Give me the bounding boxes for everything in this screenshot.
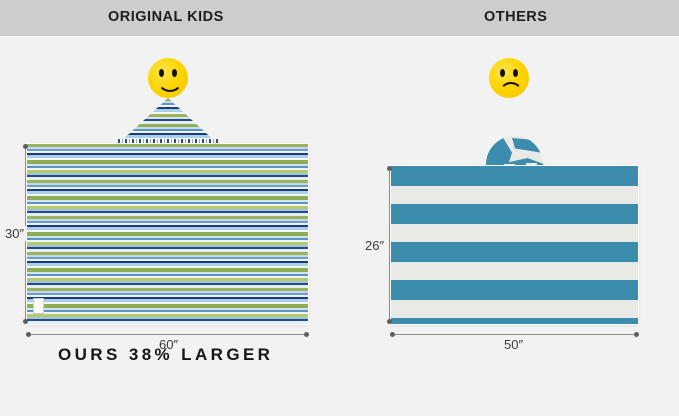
- comparison-stage: 30″ 60″ 26″ 50″ OURS 38% LARGER: [0, 36, 679, 416]
- right-towel-height-label: 26″: [362, 238, 387, 253]
- left-towel-width-dimension-line: [28, 334, 307, 335]
- left-towel-body: [27, 144, 308, 324]
- sad-face-icon: [489, 58, 529, 98]
- sad-face-right-eye: [513, 69, 518, 77]
- size-advantage-tagline: OURS 38% LARGER: [58, 345, 273, 365]
- header-label-others: OTHERS: [484, 9, 547, 25]
- sad-face-frown: [499, 82, 523, 97]
- right-towel-height-dimension-line: [389, 168, 390, 322]
- right-towel-body: [391, 166, 638, 324]
- right-towel-width-label: 50″: [501, 337, 526, 352]
- right-towel-hood-patch-2: [512, 138, 543, 153]
- header-label-original-kids: ORIGINAL KIDS: [108, 9, 224, 25]
- happy-face-icon: [148, 58, 188, 98]
- sad-face-left-eye: [500, 69, 505, 77]
- left-towel-height-label: 30″: [2, 226, 27, 241]
- comparison-header-band: ORIGINAL KIDS OTHERS: [0, 0, 679, 36]
- happy-face-smile: [157, 76, 183, 92]
- right-towel-width-dimension-line: [392, 334, 637, 335]
- left-towel-brand-tag: [33, 298, 44, 314]
